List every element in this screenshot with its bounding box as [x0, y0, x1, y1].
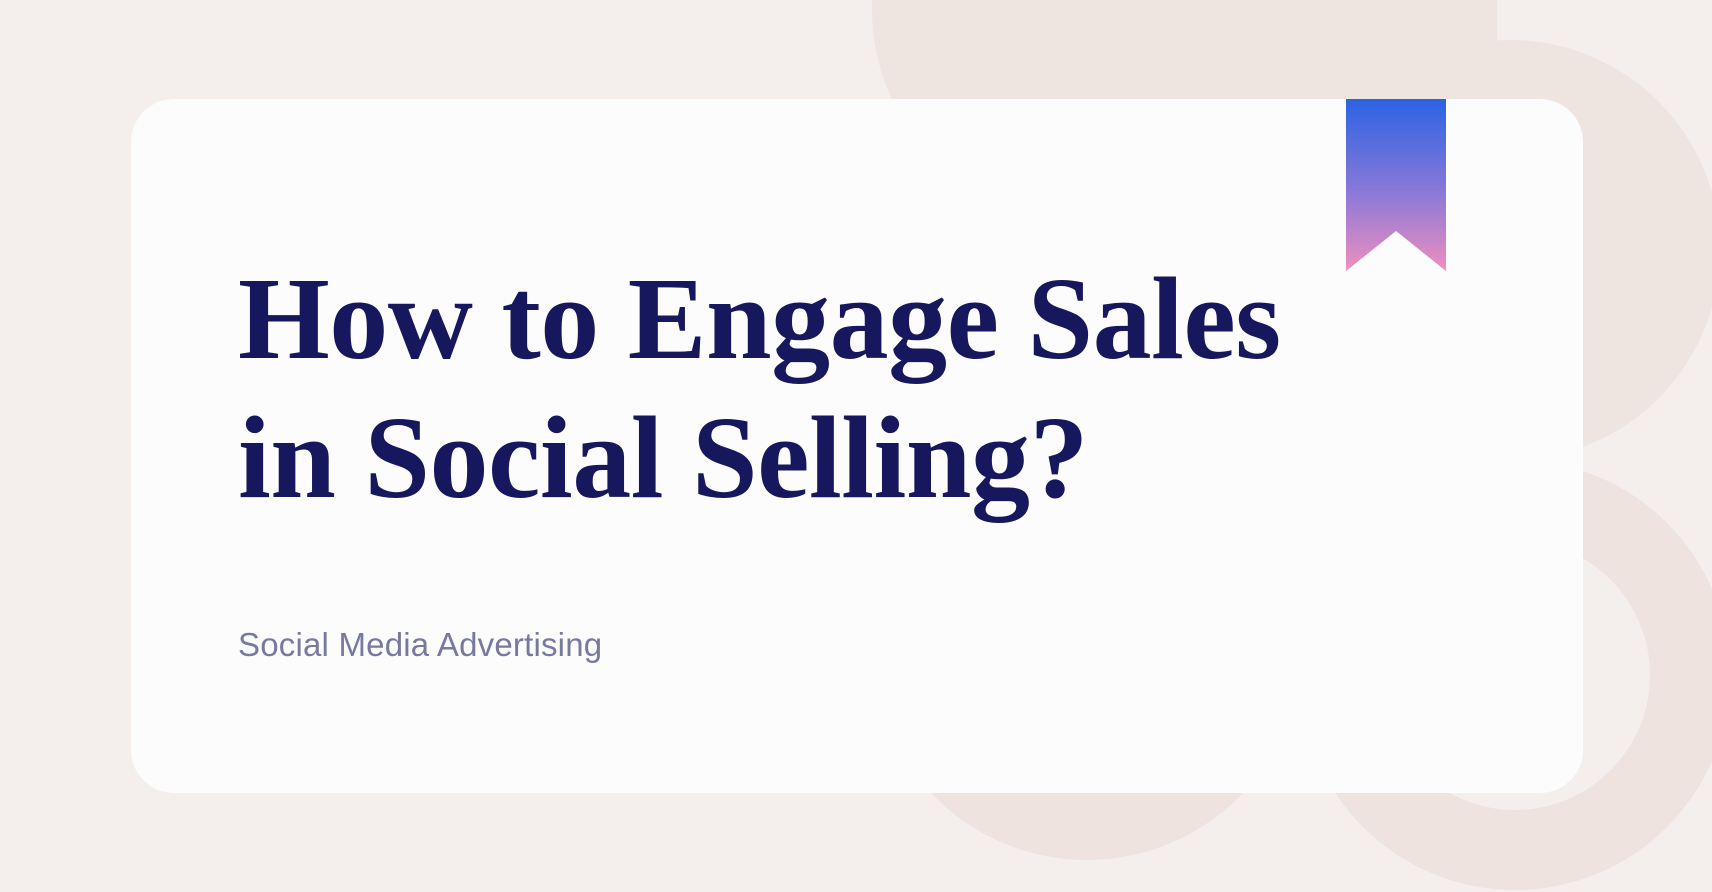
presentation-slide: How to Engage Sales in Social Selling? S…	[0, 0, 1712, 892]
slide-text-block: How to Engage Sales in Social Selling? S…	[238, 249, 1478, 665]
page-title: How to Engage Sales in Social Selling?	[238, 249, 1478, 527]
slide-card: How to Engage Sales in Social Selling? S…	[131, 99, 1583, 793]
slide-subtitle: Social Media Advertising	[238, 527, 1478, 665]
bookmark-ribbon-icon	[1346, 99, 1446, 271]
